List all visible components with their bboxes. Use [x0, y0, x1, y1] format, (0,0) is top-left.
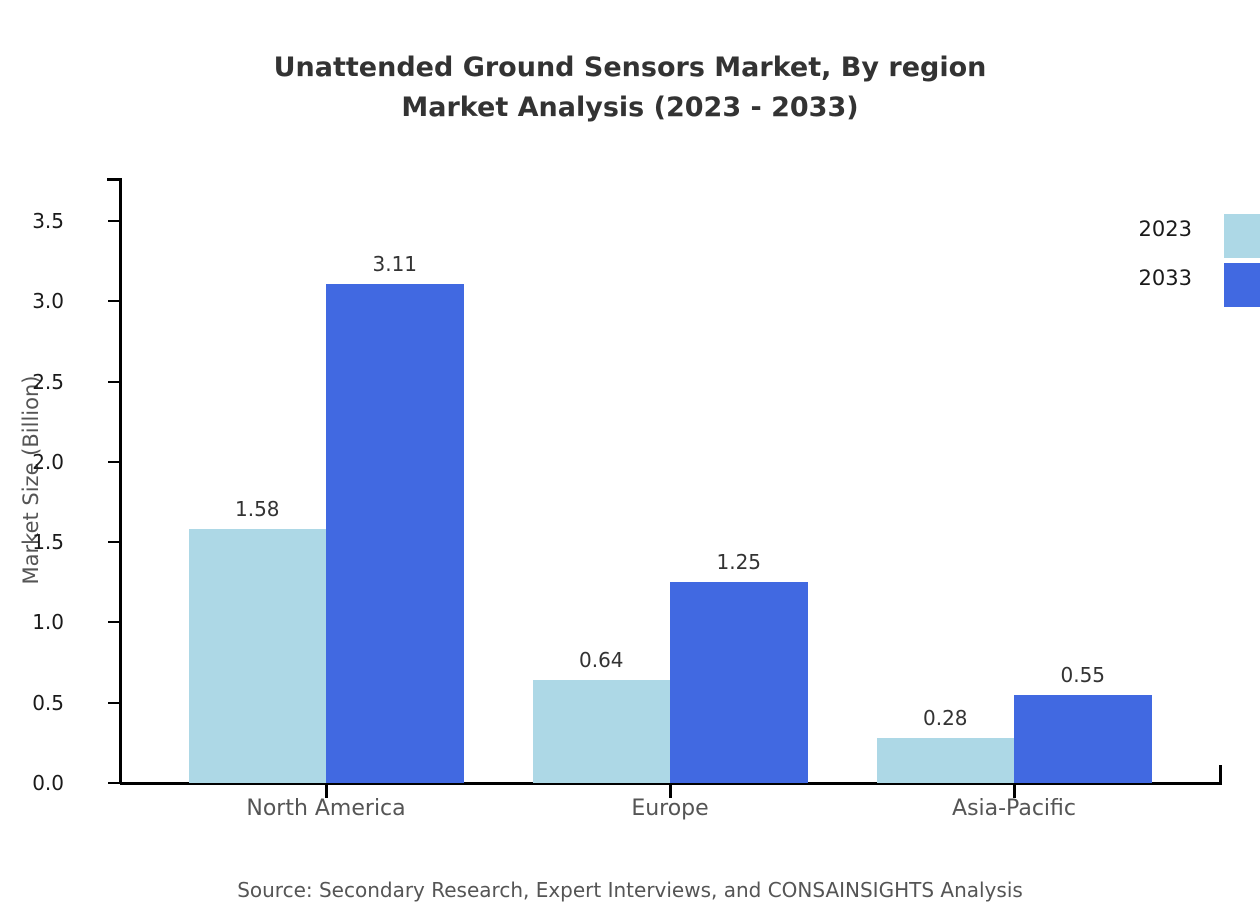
chart-figure: Unattended Ground Sensors Market, By reg…: [0, 0, 1260, 920]
bar-value-label: 1.25: [659, 551, 819, 573]
y-axis-tick: [108, 621, 120, 623]
bar-2033-asia-pacific[interactable]: [1014, 695, 1152, 783]
bar-value-label: 0.55: [1003, 664, 1163, 686]
legend-item-2033[interactable]: 2033: [1100, 263, 1260, 307]
y-axis-tick-label: 1.0: [4, 612, 64, 632]
y-axis-tick: [108, 461, 120, 463]
bar-value-label: 1.58: [177, 498, 337, 520]
y-axis-tick-label: 0.0: [4, 773, 64, 793]
y-axis-tick: [108, 300, 120, 302]
chart-legend: 20232033: [1100, 214, 1260, 314]
y-axis-tick-label: 2.5: [4, 372, 64, 392]
source-note: Source: Secondary Research, Expert Inter…: [0, 876, 1260, 904]
x-axis-category-label: Asia-Pacific: [864, 793, 1164, 825]
y-axis-tick-label: 3.5: [4, 211, 64, 231]
bar-2033-europe[interactable]: [670, 582, 808, 783]
y-axis-tick-label: 1.5: [4, 532, 64, 552]
legend-item-2023[interactable]: 2023: [1100, 214, 1260, 258]
x-axis-category-label: Europe: [520, 793, 820, 825]
y-axis-tick: [108, 541, 120, 543]
bar-2033-north-america[interactable]: [326, 284, 464, 783]
legend-color-swatch: [1224, 263, 1260, 307]
y-axis-tick: [108, 220, 120, 222]
y-axis-tick-label: 2.0: [4, 452, 64, 472]
bar-value-label: 0.28: [865, 707, 1025, 729]
y-axis-tick: [108, 702, 120, 704]
y-axis-tick: [108, 782, 120, 784]
legend-item-label: 2023: [1072, 214, 1192, 244]
chart-title-line-2: Market Analysis (2023 - 2033): [0, 88, 1260, 128]
legend-item-label: 2033: [1072, 263, 1192, 293]
plot-area: 0.00.51.01.52.02.53.03.51.583.110.641.25…: [120, 178, 1222, 783]
bar-2023-asia-pacific[interactable]: [877, 738, 1015, 783]
bar-value-label: 0.64: [521, 649, 681, 671]
chart-title: Unattended Ground Sensors Market, By reg…: [0, 48, 1260, 128]
chart-title-line-1: Unattended Ground Sensors Market, By reg…: [0, 48, 1260, 88]
y-axis-tick: [108, 381, 120, 383]
bar-2023-north-america[interactable]: [189, 529, 327, 783]
bar-2023-europe[interactable]: [533, 680, 671, 783]
x-axis-category-label: North America: [176, 793, 476, 825]
legend-color-swatch: [1224, 214, 1260, 258]
bar-value-label: 3.11: [315, 253, 475, 275]
y-axis-tick-label: 0.5: [4, 693, 64, 713]
y-axis-tick-label: 3.0: [4, 291, 64, 311]
